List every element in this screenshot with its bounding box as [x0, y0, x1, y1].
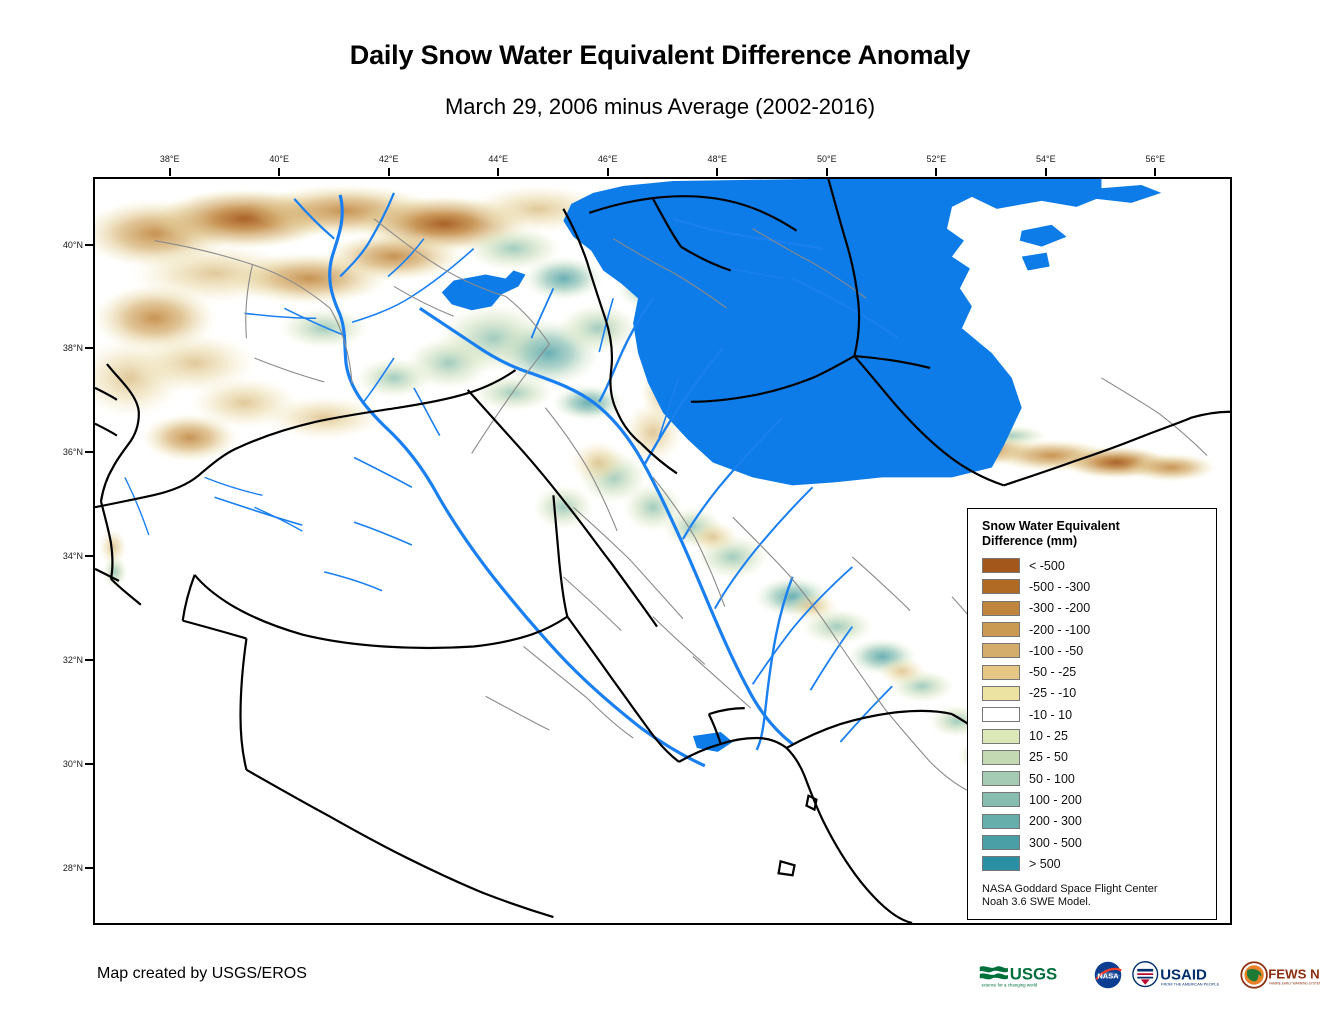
lat-tick-label: 34°N	[45, 551, 83, 561]
lat-tick-mark	[85, 451, 93, 453]
lat-tick-label: 38°N	[45, 343, 83, 353]
lon-tick-mark	[388, 168, 390, 176]
lat-tick-mark	[85, 659, 93, 661]
legend-swatch	[982, 579, 1020, 594]
lon-tick-label: 46°E	[598, 154, 618, 164]
lon-tick-mark	[497, 168, 499, 176]
agency-logo-strip: USGS science for a changing world NASA U…	[978, 958, 1320, 992]
map-credit: Map created by USGS/EROS	[97, 965, 307, 983]
legend-label: -500 - -300	[1029, 580, 1090, 594]
lon-tick-label: 48°E	[707, 154, 727, 164]
legend-label: -10 - 10	[1029, 708, 1072, 722]
legend-swatch	[982, 792, 1020, 807]
legend-swatch	[982, 771, 1020, 786]
legend-row: -100 - -50	[982, 640, 1216, 661]
svg-text:FROM THE AMERICAN PEOPLE: FROM THE AMERICAN PEOPLE	[1161, 982, 1219, 987]
lat-tick-mark	[85, 867, 93, 869]
map-legend: Snow Water Equivalent Difference (mm) < …	[967, 508, 1217, 920]
legend-row: 10 - 25	[982, 725, 1216, 746]
lon-tick-label: 54°E	[1036, 154, 1056, 164]
lon-tick-mark	[607, 168, 609, 176]
lat-tick-mark	[85, 244, 93, 246]
legend-row: -200 - -100	[982, 619, 1216, 640]
coast-persian-gulf	[679, 738, 912, 923]
lon-tick-label: 40°E	[269, 154, 289, 164]
legend-label: 300 - 500	[1029, 836, 1082, 850]
legend-row: 25 - 50	[982, 747, 1216, 768]
legend-swatch	[982, 686, 1020, 701]
lon-tick-label: 56°E	[1146, 154, 1166, 164]
legend-label: -100 - -50	[1029, 644, 1083, 658]
fewsnet-logo: FEWS NET FAMINE EARLY WARNING SYSTEMS NE…	[1240, 960, 1320, 990]
lat-tick-mark	[85, 347, 93, 349]
legend-label: -50 - -25	[1029, 665, 1076, 679]
legend-swatch	[982, 750, 1020, 765]
nasa-logo: NASA	[1093, 960, 1123, 990]
legend-label: 50 - 100	[1029, 772, 1075, 786]
legend-row: -10 - 10	[982, 704, 1216, 725]
legend-swatch	[982, 601, 1020, 616]
legend-title-line1: Snow Water Equivalent	[982, 519, 1182, 534]
legend-label: < -500	[1029, 559, 1065, 573]
legend-row: 100 - 200	[982, 789, 1216, 810]
legend-label: -300 - -200	[1029, 601, 1090, 615]
legend-row: -500 - -300	[982, 576, 1216, 597]
legend-label: -25 - -10	[1029, 686, 1076, 700]
lon-tick-label: 52°E	[926, 154, 946, 164]
legend-swatch	[982, 707, 1020, 722]
legend-row: 200 - 300	[982, 811, 1216, 832]
legend-source-line2: Noah 3.6 SWE Model.	[982, 896, 1216, 909]
legend-label: -200 - -100	[1029, 623, 1090, 637]
legend-row: 300 - 500	[982, 832, 1216, 853]
legend-swatch	[982, 814, 1020, 829]
legend-row: 50 - 100	[982, 768, 1216, 789]
usgs-logo: USGS science for a changing world	[978, 960, 1084, 990]
legend-swatch	[982, 665, 1020, 680]
lon-tick-mark	[716, 168, 718, 176]
legend-source-note: NASA Goddard Space Flight Center Noah 3.…	[982, 883, 1216, 909]
legend-source-line1: NASA Goddard Space Flight Center	[982, 883, 1216, 896]
usaid-logo: USAID FROM THE AMERICAN PEOPLE	[1132, 960, 1231, 990]
svg-text:science for a changing world: science for a changing world	[982, 982, 1038, 987]
lon-tick-label: 50°E	[817, 154, 837, 164]
lat-tick-mark	[85, 763, 93, 765]
legend-class-list: < -500-500 - -300-300 - -200-200 - -100-…	[982, 555, 1216, 874]
lon-tick-mark	[278, 168, 280, 176]
lon-tick-mark	[935, 168, 937, 176]
legend-swatch	[982, 835, 1020, 850]
lat-tick-mark	[85, 555, 93, 557]
lat-tick-label: 28°N	[45, 863, 83, 873]
legend-row: -25 - -10	[982, 683, 1216, 704]
page-title: Daily Snow Water Equivalent Difference A…	[0, 40, 1320, 71]
legend-swatch	[982, 622, 1020, 637]
legend-label: 100 - 200	[1029, 793, 1082, 807]
lon-tick-mark	[1045, 168, 1047, 176]
lat-tick-label: 40°N	[45, 240, 83, 250]
legend-row: -300 - -200	[982, 598, 1216, 619]
lon-tick-mark	[1154, 168, 1156, 176]
lon-tick-mark	[826, 168, 828, 176]
legend-label: 200 - 300	[1029, 814, 1082, 828]
lat-tick-label: 36°N	[45, 447, 83, 457]
legend-swatch	[982, 643, 1020, 658]
legend-row: -50 - -25	[982, 661, 1216, 682]
title-block: Daily Snow Water Equivalent Difference A…	[0, 0, 1320, 120]
svg-text:USGS: USGS	[1010, 964, 1057, 983]
legend-label: 10 - 25	[1029, 729, 1068, 743]
page-subtitle: March 29, 2006 minus Average (2002-2016)	[0, 94, 1320, 120]
legend-label: > 500	[1029, 857, 1061, 871]
legend-title-line2: Difference (mm)	[982, 534, 1182, 549]
lake-van	[442, 271, 526, 311]
legend-row: < -500	[982, 555, 1216, 576]
lon-tick-label: 38°E	[160, 154, 180, 164]
lat-tick-label: 32°N	[45, 655, 83, 665]
lon-tick-mark	[169, 168, 171, 176]
legend-swatch	[982, 729, 1020, 744]
legend-title: Snow Water Equivalent Difference (mm)	[982, 519, 1182, 549]
lon-tick-label: 42°E	[379, 154, 399, 164]
lat-tick-label: 30°N	[45, 759, 83, 769]
legend-label: 25 - 50	[1029, 750, 1068, 764]
legend-row: > 500	[982, 853, 1216, 874]
svg-text:NASA: NASA	[1097, 972, 1119, 981]
legend-swatch	[982, 558, 1020, 573]
svg-text:FAMINE EARLY WARNING SYSTEMS N: FAMINE EARLY WARNING SYSTEMS NETWORK	[1269, 982, 1320, 986]
legend-swatch	[982, 856, 1020, 871]
svg-text:FEWS NET: FEWS NET	[1268, 967, 1320, 982]
lon-tick-label: 44°E	[488, 154, 508, 164]
